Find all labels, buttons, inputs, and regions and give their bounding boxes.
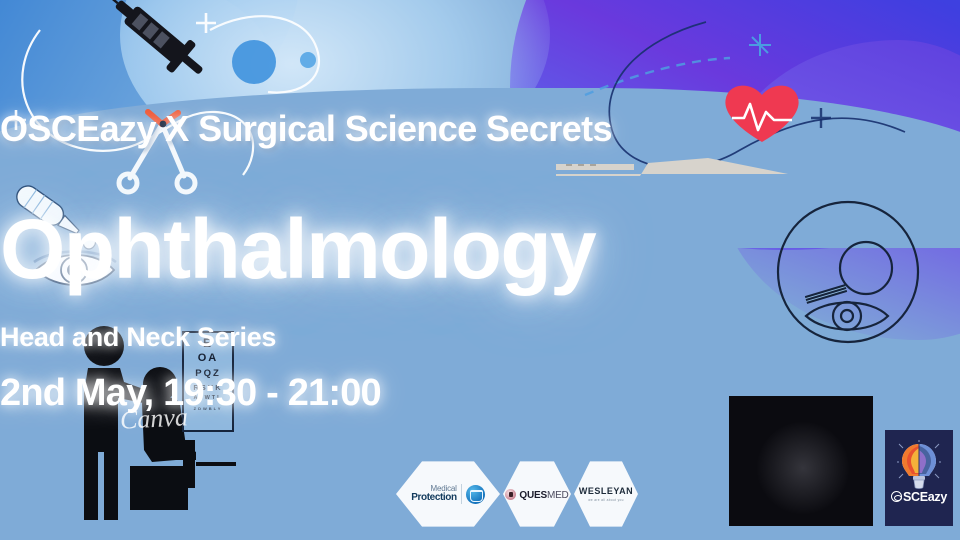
sponsor-mp-line2: Protection	[411, 493, 456, 503]
mp-shield-badge-icon	[466, 485, 485, 504]
osceazy-wordmark: SCEazy	[885, 490, 953, 504]
sponsor-wesleyan: WESLEYAN we are all about you	[574, 460, 638, 528]
osceazy-eye-mark-icon	[891, 491, 902, 502]
sponsor-row: Medical Protection QUESMED WESLEYAN we a…	[396, 460, 638, 528]
dashed-line	[585, 58, 730, 95]
syringe-icon	[86, 0, 213, 87]
plus-icon-top	[196, 13, 216, 33]
sponsor-qm-line1: QUES	[519, 490, 547, 501]
white-curve-left-2	[210, 16, 319, 92]
osceazy-word-text: SCEazy	[903, 490, 947, 504]
scalpel-icon	[556, 158, 788, 176]
logo-glow	[757, 422, 849, 514]
poster-series: Head and Neck Series	[0, 322, 960, 353]
surgical-science-secrets-logo	[729, 396, 873, 526]
background-highlight-blob	[120, 0, 550, 180]
white-curve-left	[22, 30, 253, 175]
quesmed-mark-icon	[505, 489, 516, 500]
sponsor-quesmed: QUESMED	[503, 460, 571, 528]
background-blob-top-left-2	[0, 0, 270, 210]
page-title: Ophthalmology	[0, 205, 960, 293]
divider	[461, 484, 462, 504]
background-blob-top-right-2	[720, 40, 960, 340]
osceazy-logo: SCEazy	[885, 430, 953, 526]
brain-lightbulb-icon	[897, 440, 941, 490]
sponsor-wm-line1: WESLEYAN	[579, 486, 633, 496]
background-dot-large	[232, 40, 276, 84]
sponsor-qm-line2: MED	[547, 490, 569, 501]
snellen-row-2: OA	[198, 353, 219, 364]
background-dot-small	[300, 52, 316, 68]
poster-kicker: OSCEazy X Surgical Science Secrets	[0, 108, 960, 150]
sponsor-medical-protection: Medical Protection	[396, 460, 500, 528]
sponsor-wm-line2: we are all about you	[579, 498, 633, 502]
poster-canvas: E OA PQZ RSUK AYWTL ZDWBLY Canva OSCEazy…	[0, 0, 960, 540]
sparkle-icon	[749, 34, 771, 56]
